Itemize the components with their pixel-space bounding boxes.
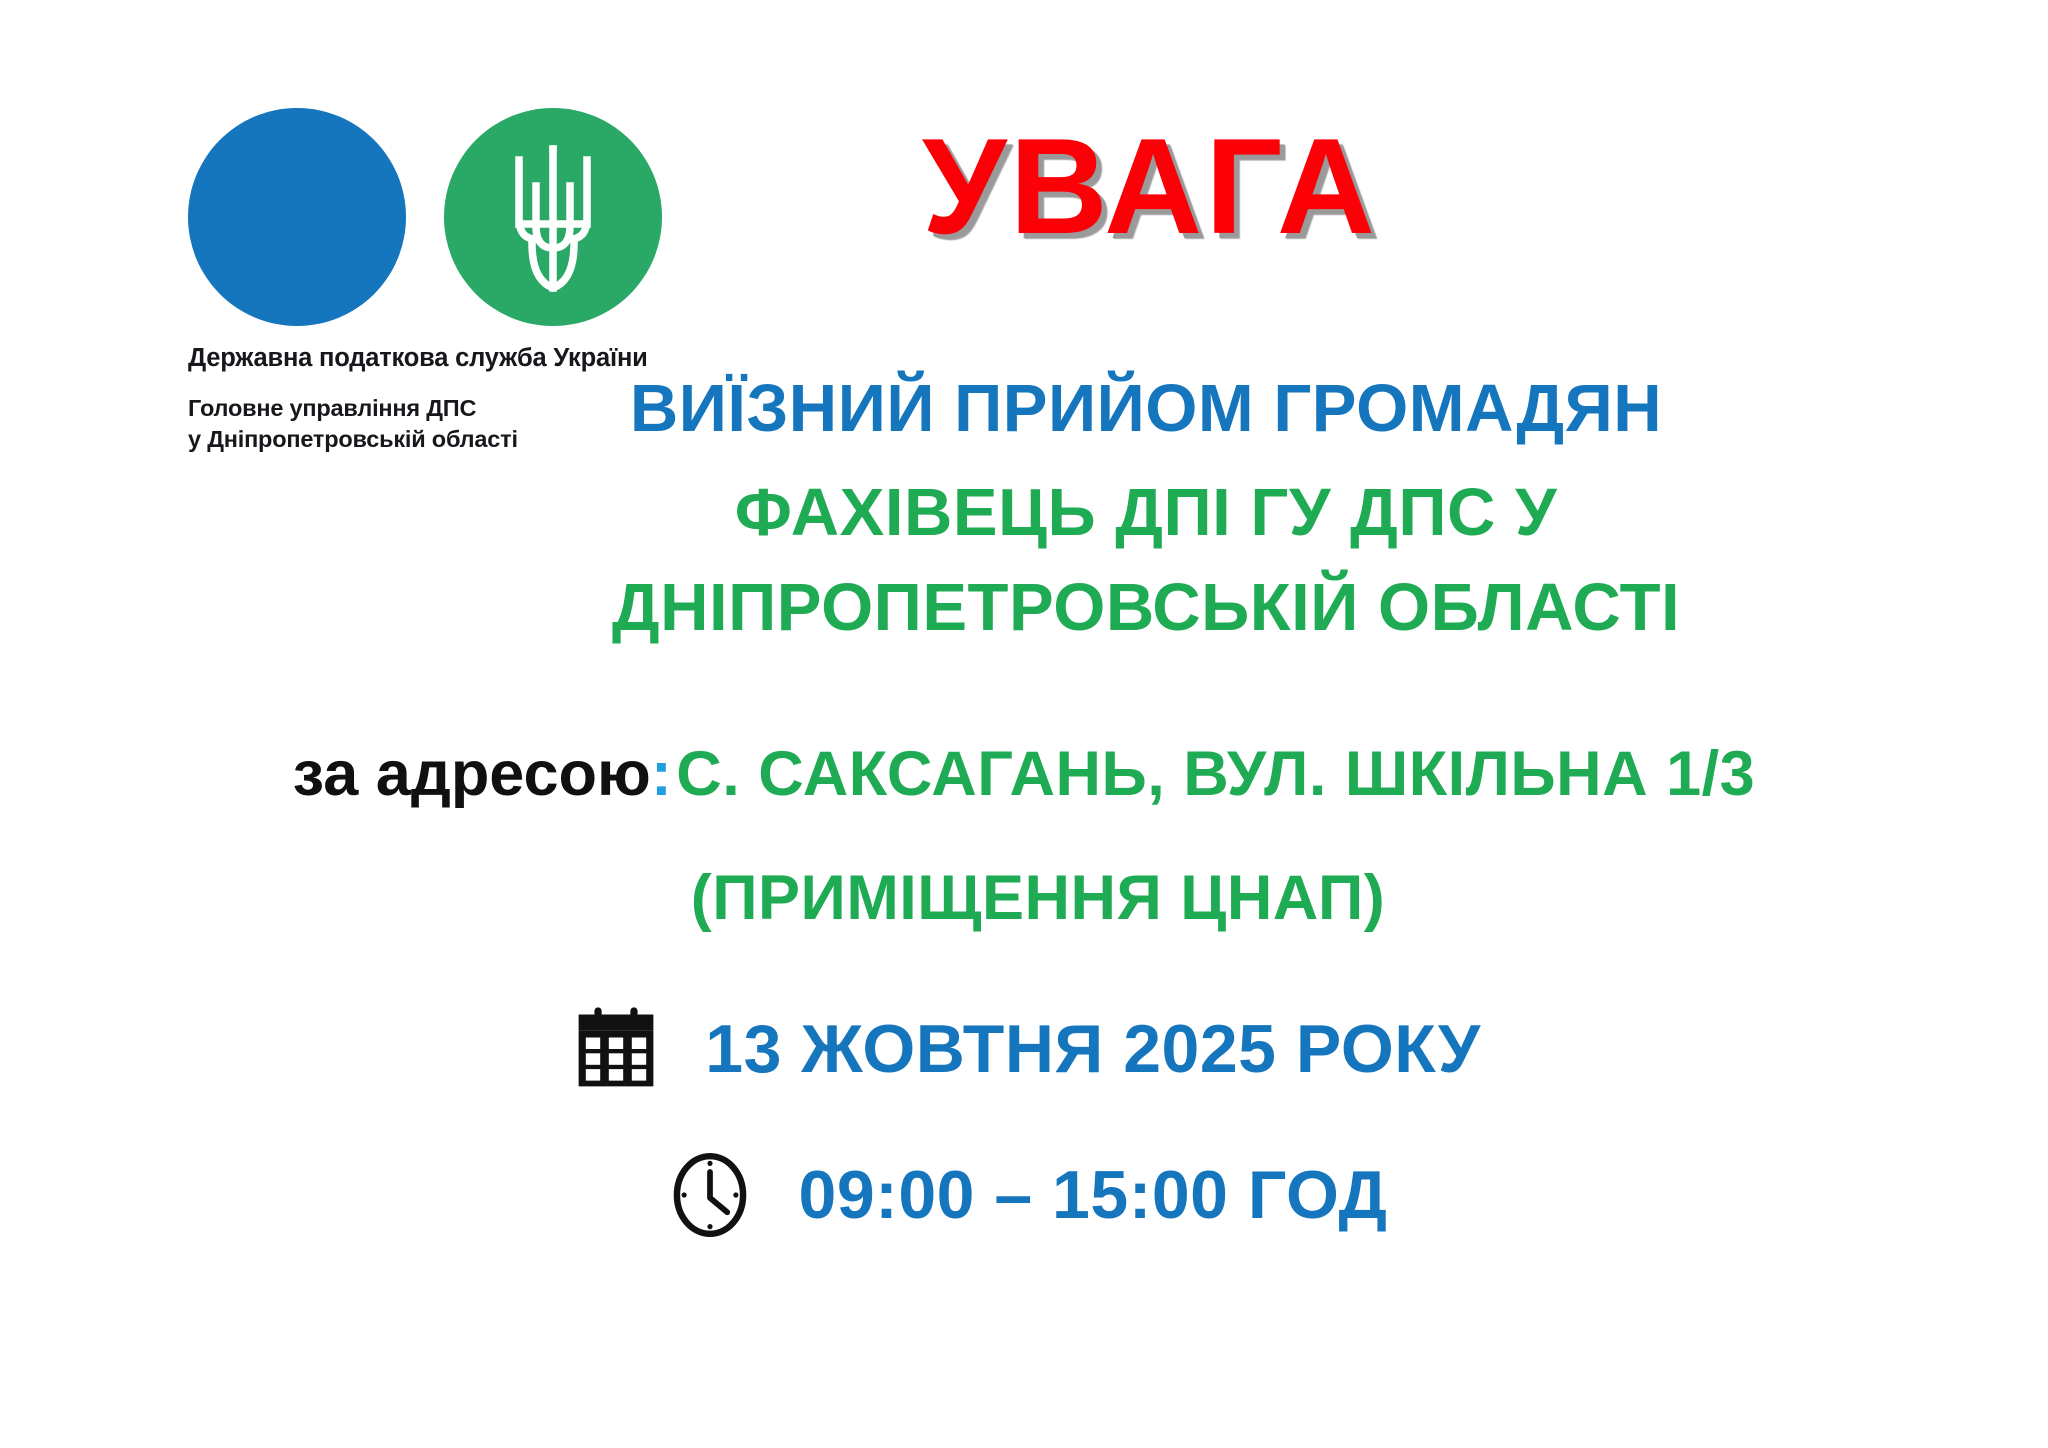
heading-visiting-reception: ВИЇЗНИЙ ПРИЙОМ ГРОМАДЯН	[244, 368, 2048, 450]
schedule-time-row: 09:00 – 15:00 ГОД	[0, 1146, 2048, 1244]
schedule-time-text: 09:00 – 15:00 ГОД	[799, 1156, 1388, 1234]
address-label: за адресою	[293, 739, 651, 809]
address-separator: :	[651, 739, 672, 809]
address-venue: (ПРИМІЩЕННЯ ЦНАП)	[691, 863, 1386, 933]
announcement-poster: Державна податкова служба України Головн…	[0, 0, 2048, 1448]
address-row: за адресою: С. САКСАГАНЬ, ВУЛ. ШКІЛЬНА 1…	[0, 738, 2048, 810]
attention-title-wrap: УВАГА	[0, 118, 2048, 254]
calendar-icon	[567, 1000, 665, 1098]
address-venue-row: (ПРИМІЩЕННЯ ЦНАП)	[0, 862, 2048, 934]
schedule-date-text: 13 ЖОВТНЯ 2025 РОКУ	[705, 1010, 1480, 1088]
address-value: С. САКСАГАНЬ, ВУЛ. ШКІЛЬНА 1/3	[676, 739, 1755, 809]
schedule-date-row: 13 ЖОВТНЯ 2025 РОКУ	[0, 1000, 2048, 1098]
clock-icon	[661, 1146, 759, 1244]
heading-specialist-line-2: ДНІПРОПЕТРОВСЬКІЙ ОБЛАСТІ	[244, 567, 2048, 649]
heading-specialist-line-1: ФАХІВЕЦЬ ДПІ ГУ ДПС У	[244, 472, 2048, 554]
attention-title: УВАГА	[922, 118, 1378, 254]
headings-block: ВИЇЗНИЙ ПРИЙОМ ГРОМАДЯН ФАХІВЕЦЬ ДПІ ГУ …	[0, 368, 2048, 649]
